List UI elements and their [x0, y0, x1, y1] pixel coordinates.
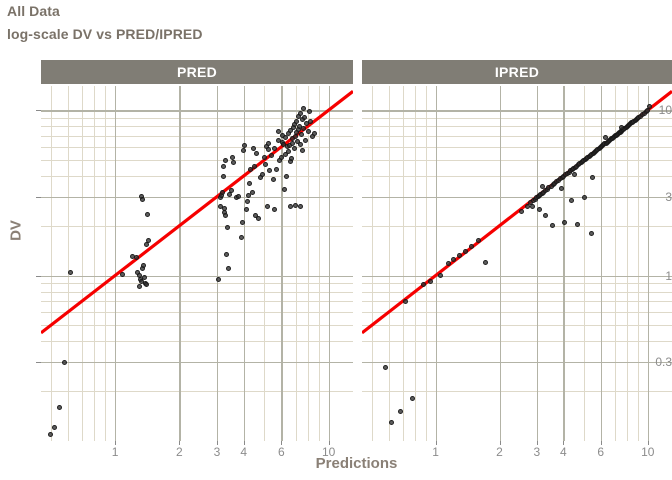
data-point — [575, 222, 580, 227]
data-point — [145, 212, 150, 217]
facet-strip-pred: PRED — [41, 60, 353, 84]
data-point — [383, 365, 388, 370]
data-point — [271, 177, 276, 182]
data-point — [274, 167, 279, 172]
data-point — [244, 207, 249, 212]
x-tick-label: 6 — [278, 445, 285, 459]
data-point — [223, 158, 228, 163]
y-tick-mark — [36, 276, 41, 277]
y-tick-mark — [36, 197, 41, 198]
data-point — [260, 172, 265, 177]
x-tick-mark — [601, 441, 602, 445]
data-point — [303, 138, 308, 143]
data-point — [221, 164, 226, 169]
data-point — [239, 235, 244, 240]
data-point — [142, 275, 147, 280]
y-axis-title: DV — [8, 211, 25, 251]
scatter-panel-ipred — [362, 86, 672, 441]
data-point — [250, 190, 255, 195]
y-tick-label: 3 — [639, 190, 672, 204]
facet-strip-ipred-label: IPRED — [495, 64, 539, 80]
data-point — [221, 174, 226, 179]
data-point — [220, 190, 225, 195]
data-point — [252, 164, 257, 169]
x-tick-label: 1 — [112, 445, 119, 459]
data-point — [216, 277, 221, 282]
x-tick-label: 6 — [597, 445, 604, 459]
x-tick-label: 2 — [176, 445, 183, 459]
data-point — [245, 199, 250, 204]
x-tick-label: 2 — [496, 445, 503, 459]
data-point — [569, 198, 574, 203]
x-tick-label: 4 — [560, 445, 567, 459]
x-tick-label: 3 — [534, 445, 541, 459]
data-point — [57, 405, 62, 410]
x-tick-mark — [537, 441, 538, 445]
data-point — [262, 155, 267, 160]
x-tick-mark — [115, 441, 116, 445]
x-tick-label: 10 — [641, 445, 654, 459]
x-tick-label: 1 — [432, 445, 439, 459]
data-point — [559, 186, 564, 191]
x-tick-mark — [648, 441, 649, 445]
data-point — [562, 220, 567, 225]
data-point — [619, 125, 624, 130]
data-point — [240, 220, 245, 225]
data-point — [137, 284, 142, 289]
facet-strip-ipred: IPRED — [362, 60, 672, 84]
data-point — [68, 270, 73, 275]
data-point — [438, 273, 443, 278]
data-point — [389, 420, 394, 425]
data-point — [247, 181, 252, 186]
data-point — [272, 207, 277, 212]
x-tick-mark — [563, 441, 564, 445]
data-point — [284, 174, 289, 179]
data-point — [62, 360, 67, 365]
data-point — [225, 225, 230, 230]
x-tick-mark — [436, 441, 437, 445]
x-tick-label: 3 — [214, 445, 221, 459]
data-point — [298, 142, 303, 147]
data-point — [403, 299, 408, 304]
data-point — [308, 119, 313, 124]
page-title: All Data — [7, 3, 60, 19]
data-point — [251, 146, 256, 151]
data-point — [572, 172, 577, 177]
y-tick-label: 10 — [639, 103, 672, 117]
y-tick-mark — [36, 110, 41, 111]
data-point — [263, 162, 268, 167]
data-point — [266, 141, 271, 146]
y-tick-mark — [36, 362, 41, 363]
x-tick-mark — [179, 441, 180, 445]
y-tick-label: 1 — [639, 269, 672, 283]
data-point — [230, 155, 235, 160]
x-tick-mark — [217, 441, 218, 445]
data-point — [144, 242, 149, 247]
data-point — [298, 204, 303, 209]
x-tick-mark — [244, 441, 245, 445]
x-tick-mark — [500, 441, 501, 445]
y-tick-label: 0.3 — [639, 355, 672, 369]
x-tick-mark — [329, 441, 330, 445]
data-point — [224, 252, 229, 257]
x-tick-label: 10 — [322, 445, 335, 459]
scatter-panel-pred — [41, 86, 353, 441]
x-tick-mark — [281, 441, 282, 445]
data-point — [301, 106, 306, 111]
facet-strip-pred-label: PRED — [177, 64, 217, 80]
data-point — [306, 129, 311, 134]
data-point — [254, 151, 259, 156]
data-point — [120, 272, 125, 277]
data-point — [289, 156, 294, 161]
page-subtitle: log-scale DV vs PRED/IPRED — [7, 26, 203, 42]
x-tick-label: 4 — [240, 445, 247, 459]
x-axis-title: Predictions — [41, 455, 672, 472]
data-point — [307, 109, 312, 114]
data-point — [463, 249, 468, 254]
identity-reference-line — [362, 86, 672, 441]
